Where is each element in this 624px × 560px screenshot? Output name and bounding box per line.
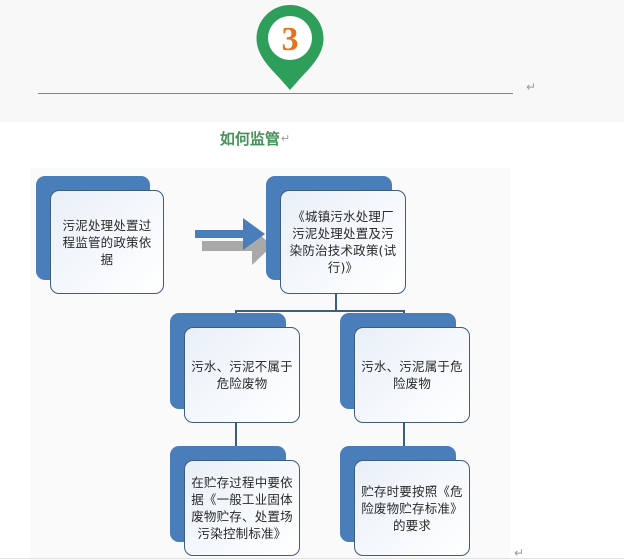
arrow-right-icon <box>193 216 271 268</box>
bottom-divider <box>0 558 624 559</box>
flow-node-policy-document[interactable]: 《城镇污水处理厂污泥处理处置及污染防治技术政策(试行)》 <box>266 176 406 294</box>
flow-node-not-hazardous-waste[interactable]: 污水、污泥不属于危险废物 <box>170 313 300 423</box>
header-band: 3 ↵ <box>0 0 624 122</box>
flow-node-is-hazardous-waste[interactable]: 污水、污泥属于危险废物 <box>340 313 470 423</box>
connector-bus <box>235 310 405 312</box>
node-card: 污水、污泥属于危险废物 <box>354 327 470 423</box>
flow-node-general-solid-waste-standard[interactable]: 在贮存过程中要依据《一般工业固体废物贮存、处置场污染控制标准》 <box>170 446 300 556</box>
paragraph-mark-icon: ↵ <box>526 80 536 94</box>
map-pin-icon <box>246 2 334 94</box>
flowchart: 污泥处理处置过程监管的政策依据 《城镇污水处理厂污泥处理处置及污染防治技术政策(… <box>30 168 510 560</box>
flow-node-policy-basis[interactable]: 污泥处理处置过程监管的政策依据 <box>36 176 164 294</box>
node-label: 在贮存过程中要依据《一般工业固体废物贮存、处置场污染控制标准》 <box>191 474 293 542</box>
node-card: 污水、污泥不属于危险废物 <box>184 327 300 423</box>
paragraph-mark-icon: ↵ <box>281 132 290 145</box>
header-divider <box>38 93 513 94</box>
node-card: 污泥处理处置过程监管的政策依据 <box>50 190 164 294</box>
node-card: 《城镇污水处理厂污泥处理处置及污染防治技术政策(试行)》 <box>280 190 406 294</box>
node-label: 贮存时要按照《危险废物贮存标准》的要求 <box>361 483 463 534</box>
node-label: 污水、污泥属于危险废物 <box>361 358 463 392</box>
map-pin-badge: 3 <box>246 2 334 94</box>
page-title-text: 如何监管 <box>220 130 280 148</box>
node-label: 《城镇污水处理厂污泥处理处置及污染防治技术政策(试行)》 <box>287 208 399 276</box>
page-title: 如何监管↵ <box>0 128 510 149</box>
node-label: 污水、污泥不属于危险废物 <box>191 358 293 392</box>
node-card: 贮存时要按照《危险废物贮存标准》的要求 <box>354 460 470 556</box>
node-label: 污泥处理处置过程监管的政策依据 <box>57 217 157 268</box>
flow-node-hazardous-waste-standard[interactable]: 贮存时要按照《危险废物贮存标准》的要求 <box>340 446 470 556</box>
node-card: 在贮存过程中要依据《一般工业固体废物贮存、处置场污染控制标准》 <box>184 460 300 556</box>
